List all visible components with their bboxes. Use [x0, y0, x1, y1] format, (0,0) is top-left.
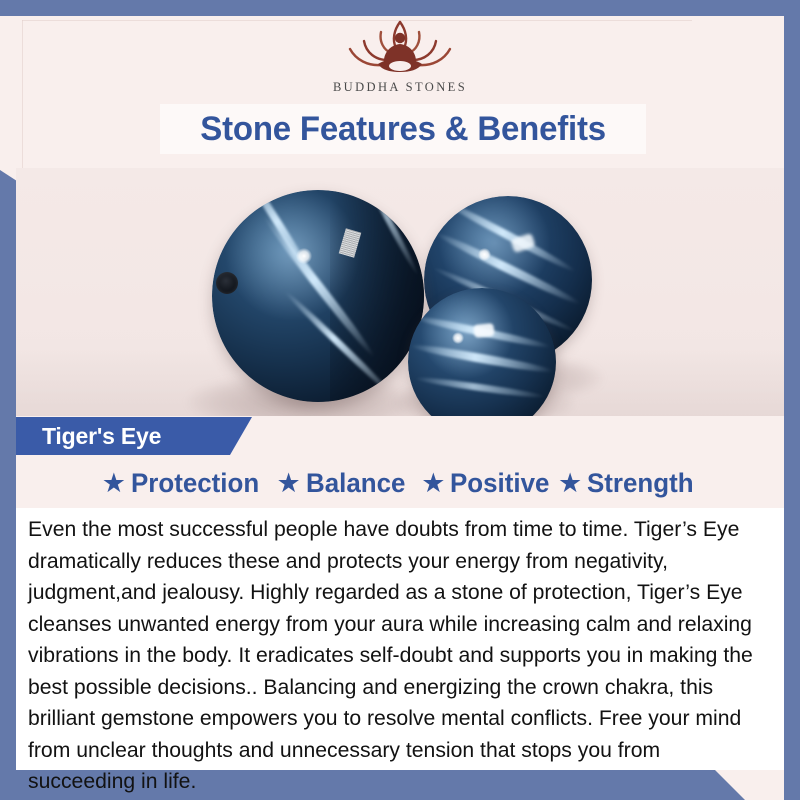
- benefit-item-protection: ★ Protection: [102, 468, 265, 499]
- benefit-label: Balance: [306, 468, 405, 499]
- benefit-item-balance: ★ Balance: [276, 468, 409, 499]
- benefit-label: Strength: [587, 468, 694, 499]
- poster-canvas: BUDDHA STONES Stone Features & Benefits: [0, 0, 800, 800]
- benefit-label: Positive: [450, 468, 549, 499]
- benefit-item-positive: ★ Positive: [421, 468, 554, 499]
- specular-highlight: [296, 248, 312, 264]
- frame-left-border: [0, 186, 16, 800]
- page-title: Stone Features & Benefits: [200, 110, 606, 149]
- benefit-label: Protection: [131, 468, 259, 499]
- specular-highlight: [473, 323, 494, 338]
- hero-image: [16, 168, 784, 416]
- star-icon: ★: [558, 470, 582, 497]
- specular-highlight: [478, 248, 491, 261]
- specular-highlight: [452, 332, 464, 344]
- lotus-meditation-logo-icon: [334, 16, 466, 78]
- description-panel: Even the most successful people have dou…: [16, 508, 784, 770]
- brand-name: BUDDHA STONES: [333, 80, 467, 95]
- benefits-row: ★ Protection ★ Balance ★ Positive ★ Stre…: [16, 462, 784, 504]
- title-band: Stone Features & Benefits: [160, 104, 646, 154]
- stone-name-ribbon: Tiger's Eye: [16, 417, 252, 455]
- benefit-item-strength: ★ Strength: [558, 468, 698, 499]
- star-icon: ★: [102, 470, 126, 497]
- star-icon: ★: [276, 470, 300, 497]
- large-bead: [212, 190, 424, 402]
- frame-right-border: [784, 0, 800, 800]
- stone-name: Tiger's Eye: [42, 423, 161, 450]
- bead-drill-hole: [216, 272, 238, 294]
- brand-logo: BUDDHA STONES: [0, 16, 800, 106]
- frame-top-border: [0, 0, 800, 16]
- star-icon: ★: [421, 470, 445, 497]
- description-text: Even the most successful people have dou…: [28, 514, 755, 798]
